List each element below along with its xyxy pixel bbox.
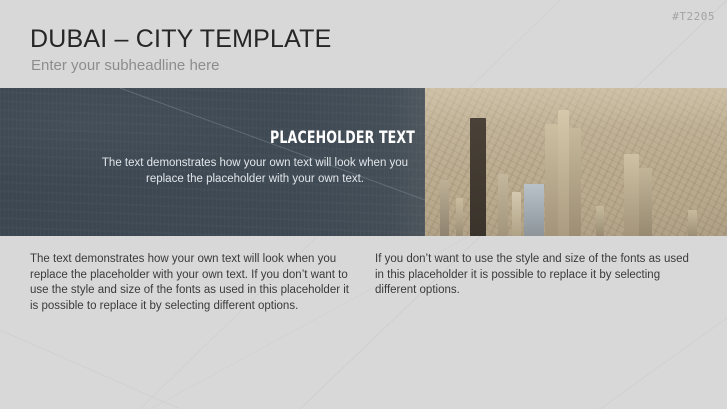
hero-image-band: PLACEHOLDER TEXT The text demonstrates h… (0, 88, 727, 236)
hero-caption: PLACEHOLDER TEXT The text demonstrates h… (95, 128, 415, 187)
slide-canvas: DUBAI – CITY TEMPLATE Enter your subhead… (0, 0, 727, 409)
page-title: DUBAI – CITY TEMPLATE (30, 25, 332, 54)
body-text-left[interactable]: The text demonstrates how your own text … (30, 252, 350, 314)
hero-caption-body[interactable]: The text demonstrates how your own text … (95, 155, 415, 187)
template-code-label: #T2205 (672, 10, 715, 23)
slide-header: DUBAI – CITY TEMPLATE Enter your subhead… (0, 0, 727, 88)
page-subtitle[interactable]: Enter your subheadline here (31, 57, 219, 74)
hero-caption-title: PLACEHOLDER TEXT (178, 128, 415, 148)
body-text-right[interactable]: If you don’t want to use the style and s… (375, 252, 697, 299)
